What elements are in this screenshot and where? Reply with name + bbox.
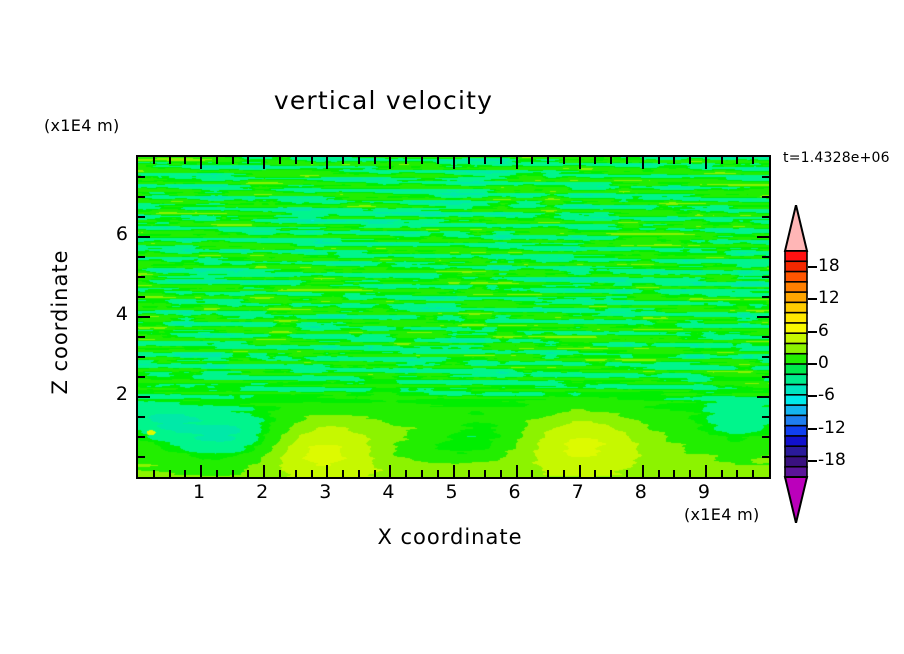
tick-mark-x [374,470,376,477]
tick-mark-x [594,470,596,477]
tick-mark-x [216,470,218,477]
page-title: vertical velocity [0,86,767,115]
tick-mark-y [138,236,150,238]
colorbar-band [785,374,807,385]
tick-mark-y [138,376,145,378]
tick-mark-x [705,465,707,477]
tick-mark-x [200,465,202,477]
colorbar-band [785,446,807,457]
tick-mark-y [138,296,145,298]
colorbar-band [785,385,807,396]
tick-mark-y [138,336,145,338]
tick-mark-x [326,465,328,477]
tick-mark-x [531,157,533,164]
colorbar-tick-mark [808,428,817,430]
tick-mark-x [594,157,596,164]
tick-mark-y [762,356,769,358]
y-tick-label: 4 [98,303,128,325]
x-tick-label: 5 [437,481,467,503]
tick-mark-x [610,157,612,164]
tick-mark-y [138,256,145,258]
tick-mark-x [263,465,265,477]
tick-mark-x [421,470,423,477]
colorbar-band [785,292,807,303]
colorbar-tick-label: 6 [818,321,829,341]
tick-mark-x [358,157,360,164]
tick-mark-y [762,296,769,298]
tick-mark-x [295,157,297,164]
tick-mark-y [138,216,145,218]
colorbar-tick-mark [808,298,817,300]
tick-mark-x [405,470,407,477]
tick-mark-x [500,157,502,164]
colorbar-tick-label: 18 [818,256,840,276]
tick-mark-x [169,157,171,164]
tick-mark-x [358,470,360,477]
tick-mark-x [626,157,628,164]
x-tick-label: 2 [247,481,277,503]
colorbar-tick-mark [808,331,817,333]
tick-mark-x [279,470,281,477]
tick-mark-x [216,157,218,164]
contour-plot-area[interactable] [136,155,771,479]
tick-mark-y [138,356,145,358]
tick-mark-x [247,157,249,164]
tick-mark-y [762,456,769,458]
tick-mark-x [453,157,455,169]
tick-mark-x [736,470,738,477]
tick-mark-x [437,157,439,164]
colorbar-tick-label: 0 [818,353,829,373]
y-axis-title: Z coordinate [48,212,72,432]
tick-mark-x [184,157,186,164]
tick-mark-y [762,216,769,218]
colorbar-band [785,364,807,375]
tick-mark-x [689,157,691,164]
tick-mark-x [547,157,549,164]
tick-mark-x [342,470,344,477]
tick-mark-y [757,316,769,318]
x-tick-label: 8 [626,481,656,503]
tick-mark-y [762,336,769,338]
tick-mark-x [658,470,660,477]
colorbar-band [785,313,807,324]
tick-mark-x [579,157,581,169]
tick-mark-x [374,157,376,164]
colorbar-band [785,282,807,293]
tick-mark-x [279,157,281,164]
colorbar-tick-mark [808,395,817,397]
tick-mark-x [468,470,470,477]
tick-mark-x [200,157,202,169]
tick-mark-y [138,196,145,198]
tick-mark-x [295,470,297,477]
tick-mark-x [311,157,313,164]
colorbar-tick-label: -12 [818,418,846,438]
x-tick-label: 9 [689,481,719,503]
tick-mark-y [757,396,769,398]
tick-mark-y [762,256,769,258]
colorbar-band [785,354,807,365]
tick-mark-x [626,470,628,477]
colorbar-band [785,343,807,354]
tick-mark-x [689,470,691,477]
colorbar-under-arrow [785,477,807,523]
tick-mark-y [138,176,145,178]
colorbar-band [785,261,807,272]
tick-mark-x [500,470,502,477]
tick-mark-x [516,157,518,169]
tick-mark-x [311,470,313,477]
tick-mark-x [153,157,155,164]
tick-mark-x [642,465,644,477]
tick-mark-x [516,465,518,477]
tick-mark-x [421,157,423,164]
tick-mark-x [736,157,738,164]
colorbar-band [785,415,807,426]
tick-mark-y [138,276,145,278]
x-axis-unit-label: (x1E4 m) [684,505,760,524]
tick-mark-x [563,157,565,164]
y-axis-unit-label: (x1E4 m) [44,116,120,135]
tick-mark-x [531,470,533,477]
tick-mark-y [138,396,150,398]
colorbar-band [785,272,807,283]
colorbar-tick-label: 12 [818,288,840,308]
colorbar-band [785,251,807,262]
tick-mark-x [705,157,707,169]
tick-mark-x [169,470,171,477]
tick-mark-x [453,465,455,477]
tick-mark-x [752,470,754,477]
colorbar-band [785,395,807,406]
tick-mark-x [468,157,470,164]
tick-mark-y [138,456,145,458]
tick-mark-x [579,465,581,477]
tick-mark-x [484,470,486,477]
tick-mark-x [563,470,565,477]
colorbar-tick-label: -18 [818,450,846,470]
tick-mark-y [138,416,145,418]
tick-mark-x [247,470,249,477]
colorbar-svg [783,205,809,523]
colorbar[interactable] [783,205,809,523]
x-tick-label: 6 [500,481,530,503]
colorbar-band [785,302,807,313]
colorbar-over-arrow [785,205,807,251]
tick-mark-x [752,157,754,164]
tick-mark-y [138,436,145,438]
x-tick-label: 4 [373,481,403,503]
tick-mark-x [389,465,391,477]
tick-mark-y [762,276,769,278]
colorbar-band [785,323,807,334]
x-tick-label: 7 [563,481,593,503]
tick-mark-x [405,157,407,164]
x-tick-label: 1 [184,481,214,503]
tick-mark-x [437,470,439,477]
tick-mark-x [673,470,675,477]
tick-mark-y [138,316,150,318]
colorbar-band [785,426,807,437]
colorbar-tick-mark [808,266,817,268]
tick-mark-x [326,157,328,169]
tick-mark-y [762,176,769,178]
x-axis-title: X coordinate [270,525,630,549]
colorbar-band [785,467,807,478]
tick-mark-x [263,157,265,169]
x-tick-label: 3 [310,481,340,503]
colorbar-tick-mark [808,363,817,365]
tick-mark-x [484,157,486,164]
tick-mark-x [721,157,723,164]
tick-mark-y [757,236,769,238]
tick-mark-y [762,376,769,378]
colorbar-band [785,405,807,416]
tick-mark-x [721,470,723,477]
tick-mark-x [658,157,660,164]
tick-mark-x [673,157,675,164]
colorbar-band [785,436,807,447]
tick-mark-x [184,470,186,477]
tick-mark-y [762,416,769,418]
tick-mark-x [389,157,391,169]
tick-mark-x [610,470,612,477]
tick-mark-y [762,436,769,438]
colorbar-band [785,456,807,467]
y-tick-label: 6 [98,223,128,245]
tick-mark-x [642,157,644,169]
tick-mark-x [547,470,549,477]
tick-mark-x [342,157,344,164]
colorbar-band [785,333,807,344]
contour-field-canvas [138,157,769,477]
tick-mark-x [232,157,234,164]
colorbar-tick-label: -6 [818,385,835,405]
colorbar-tick-mark [808,460,817,462]
y-tick-label: 2 [98,383,128,405]
tick-mark-x [153,470,155,477]
tick-mark-y [762,196,769,198]
tick-mark-x [232,470,234,477]
time-annotation: t=1.4328e+06 [783,150,890,166]
